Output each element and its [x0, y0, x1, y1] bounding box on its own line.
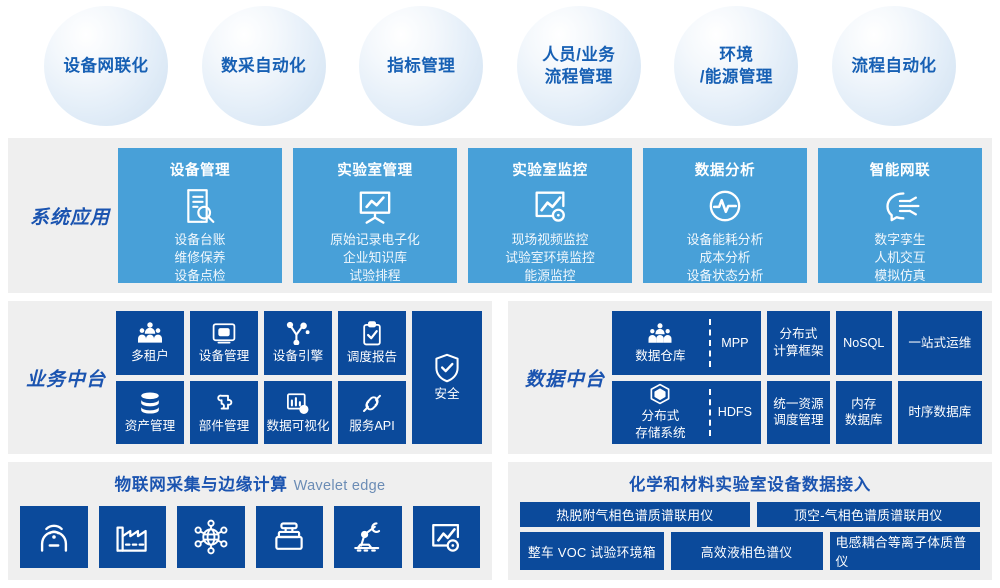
lab-data-access-section: 化学和材料实验室设备数据接入 热脱附气相色谱质谱联用仪 顶空-气相色谱质谱联用仪… [508, 462, 992, 580]
data-tile-nosql-label: NoSQL [843, 335, 884, 351]
clipboard-check-icon [360, 321, 384, 346]
iot-icon-box-monitor-chart[interactable] [413, 506, 481, 568]
business-tile-data-visualization[interactable]: 数据可视化 [264, 381, 332, 445]
data-tile-unified-resource-scheduling[interactable]: 统一资源 调度管理 [767, 381, 830, 445]
lab-chip-row-2: 整车 VOC 试验环境箱 高效液相色谱仪 电感耦合等离子体质普仪 [520, 532, 980, 570]
data-group-storage-hdfs: 分布式 存储系统 HDFS [612, 381, 761, 445]
capability-bubble-1[interactable]: 设备网联化 [44, 6, 168, 126]
wifi-gateway-icon [37, 520, 71, 554]
puzzle-icon [212, 391, 236, 415]
system-application-label: 系统应用 [22, 202, 118, 229]
system-card-lab-monitoring[interactable]: 实验室监控 现场视频监控 试验室环境监控 能源监控 [468, 148, 632, 283]
data-tile-warehouse[interactable]: 数据仓库 [612, 311, 709, 375]
system-card-intelligent-network-lines: 数字孪生 人机交互 模拟仿真 [874, 231, 925, 285]
presentation-chart-icon [354, 186, 396, 226]
system-card-lab-monitoring-lines: 现场视频监控 试验室环境监控 能源监控 [505, 231, 595, 285]
lab-chip-icp-ms[interactable]: 电感耦合等离子体质普仪 [830, 532, 980, 570]
business-tile-device-management-label: 设备管理 [199, 348, 249, 364]
device-engine-icon [285, 321, 311, 345]
data-platform-section: 数据中台 数据仓库 [508, 301, 992, 454]
iot-edge-title: 物联网采集与边缘计算 [115, 476, 288, 494]
business-platform-tile-grid: 多租户 设备管理 [116, 311, 482, 444]
system-card-device-management[interactable]: 设备管理 设备台账 维修保养 设备点检 [118, 148, 282, 283]
shield-check-icon [433, 353, 461, 383]
asset-stack-icon [137, 391, 163, 415]
business-tile-schedule-report-label: 调度报告 [347, 349, 397, 365]
data-tile-nosql[interactable]: NoSQL [836, 311, 892, 375]
business-tile-asset-management-label: 资产管理 [125, 418, 175, 434]
business-tile-security-label: 安全 [434, 386, 459, 402]
iot-edge-heading: 物联网采集与边缘计算Wavelet edge [8, 462, 492, 495]
capability-bubble-5[interactable]: 环境 /能源管理 [674, 6, 798, 126]
business-tile-device-engine[interactable]: 设备引擎 [264, 311, 332, 375]
system-application-section: 系统应用 设备管理 设备台账 维修保养 设备点检 实验室管理 [8, 138, 992, 293]
business-tile-asset-management[interactable]: 资产管理 [116, 381, 184, 445]
business-tile-service-api[interactable]: 服务API [338, 381, 406, 445]
system-card-device-management-lines: 设备台账 维修保养 设备点检 [174, 231, 225, 285]
business-tile-schedule-report[interactable]: 调度报告 [338, 311, 406, 375]
data-visual-icon [285, 391, 310, 415]
business-tile-device-engine-label: 设备引擎 [273, 348, 323, 364]
capability-bubble-2[interactable]: 数采自动化 [202, 6, 326, 126]
data-tile-onestop-ops-label: 一站式运维 [908, 335, 971, 351]
lab-chip-headspace-gcms[interactable]: 顶空-气相色谱质谱联用仪 [757, 502, 980, 527]
api-link-icon [359, 391, 385, 415]
data-platform-tile-grid: 数据仓库 MPP 分布式 计算框架 NoSQL 一站式运维 [612, 311, 982, 444]
data-tile-distributed-compute-label: 分布式 计算框架 [773, 326, 823, 359]
data-tile-warehouse-label: 数据仓库 [635, 348, 685, 364]
iot-icon-box-factory[interactable] [99, 506, 167, 568]
lab-data-access-title: 化学和材料实验室设备数据接入 [629, 476, 871, 494]
capability-bubble-row: 设备网联化 数采自动化 指标管理 人员/业务 流程管理 环境 /能源管理 流程自… [0, 0, 1000, 132]
data-warehouse-icon [647, 322, 673, 345]
pulse-circle-icon [705, 186, 745, 226]
data-tile-onestop-ops[interactable]: 一站式运维 [898, 311, 982, 375]
data-tile-distributed-compute[interactable]: 分布式 计算框架 [767, 311, 830, 375]
multi-tenant-icon [137, 321, 163, 345]
business-platform-section: 业务中台 多租户 [8, 301, 492, 454]
capability-bubble-3-label: 指标管理 [387, 55, 455, 77]
ai-head-icon [878, 186, 922, 226]
network-globe-icon [193, 519, 229, 555]
data-tile-hdfs[interactable]: HDFS [709, 381, 761, 445]
iot-icon-box-sensor-device[interactable] [256, 506, 324, 568]
data-group-warehouse-mpp: 数据仓库 MPP [612, 311, 761, 375]
lab-chip-row-1: 热脱附气相色谱质谱联用仪 顶空-气相色谱质谱联用仪 [520, 502, 980, 527]
business-tile-component-management-label: 部件管理 [199, 418, 249, 434]
device-manage-icon [211, 321, 237, 345]
system-card-data-analysis[interactable]: 数据分析 设备能耗分析 成本分析 设备状态分析 [643, 148, 807, 283]
data-tile-timeseries-db[interactable]: 时序数据库 [898, 381, 982, 445]
business-tile-data-visualization-label: 数据可视化 [266, 418, 329, 434]
system-application-card-list: 设备管理 设备台账 维修保养 设备点检 实验室管理 [118, 148, 982, 283]
iot-edge-subtitle: Wavelet edge [294, 478, 386, 494]
business-tile-security[interactable]: 安全 [412, 311, 482, 444]
system-card-device-management-title: 设备管理 [170, 159, 230, 180]
capability-bubble-3[interactable]: 指标管理 [359, 6, 483, 126]
distributed-storage-icon [648, 383, 672, 405]
capability-bubble-5-label: 环境 /能源管理 [700, 44, 773, 89]
capability-bubble-6-label: 流程自动化 [851, 55, 936, 77]
document-search-icon [180, 186, 220, 226]
iot-icon-box-wifi-gateway[interactable] [20, 506, 88, 568]
data-tile-distributed-storage[interactable]: 分布式 存储系统 [612, 381, 709, 445]
business-tile-service-api-label: 服务API [349, 418, 395, 434]
system-card-lab-monitoring-title: 实验室监控 [512, 159, 588, 180]
business-tile-multi-tenant-label: 多租户 [131, 348, 169, 364]
sensor-device-icon [271, 521, 307, 553]
business-tile-component-management[interactable]: 部件管理 [190, 381, 258, 445]
system-card-intelligent-network-title: 智能网联 [870, 159, 930, 180]
data-tile-mpp-label: MPP [721, 335, 748, 351]
robot-arm-icon [350, 520, 386, 554]
iot-icon-box-robot-arm[interactable] [334, 506, 402, 568]
iot-edge-section: 物联网采集与边缘计算Wavelet edge [8, 462, 492, 580]
architecture-diagram: 设备网联化 数采自动化 指标管理 人员/业务 流程管理 环境 /能源管理 流程自… [0, 0, 1000, 588]
iot-icon-box-network-globe[interactable] [177, 506, 245, 568]
business-tile-device-management[interactable]: 设备管理 [190, 311, 258, 375]
monitor-chart-icon [529, 186, 571, 226]
business-platform-label: 业务中台 [20, 364, 112, 391]
system-card-data-analysis-lines: 设备能耗分析 成本分析 设备状态分析 [687, 231, 764, 285]
system-card-intelligent-network[interactable]: 智能网联 数字孪生 人机交互 模拟仿真 [818, 148, 982, 283]
system-card-data-analysis-title: 数据分析 [695, 159, 755, 180]
iot-edge-icon-row [20, 506, 480, 568]
business-tile-multi-tenant[interactable]: 多租户 [116, 311, 184, 375]
data-tile-inmemory-db[interactable]: 内存 数据库 [836, 381, 892, 445]
data-tile-unified-resource-scheduling-label: 统一资源 调度管理 [773, 396, 823, 429]
data-tile-distributed-storage-label: 分布式 存储系统 [635, 408, 685, 441]
data-tile-mpp[interactable]: MPP [709, 311, 761, 375]
data-tile-inmemory-db-label: 内存 数据库 [845, 396, 883, 429]
capability-bubble-4[interactable]: 人员/业务 流程管理 [517, 6, 641, 126]
system-card-lab-management-lines: 原始记录电子化 企业知识库 试验排程 [330, 231, 420, 285]
lab-data-access-heading: 化学和材料实验室设备数据接入 [508, 462, 992, 495]
lab-chip-hplc[interactable]: 高效液相色谱仪 [671, 532, 823, 570]
data-tile-timeseries-db-label: 时序数据库 [908, 404, 971, 420]
data-tile-hdfs-label: HDFS [718, 404, 752, 420]
capability-bubble-1-label: 设备网联化 [64, 55, 149, 77]
monitor-chart-icon [428, 520, 464, 554]
capability-bubble-2-label: 数采自动化 [221, 55, 306, 77]
lab-chip-rows: 热脱附气相色谱质谱联用仪 顶空-气相色谱质谱联用仪 整车 VOC 试验环境箱 高… [520, 502, 980, 570]
lab-chip-voc-chamber[interactable]: 整车 VOC 试验环境箱 [520, 532, 664, 570]
factory-icon [114, 520, 150, 554]
capability-bubble-6[interactable]: 流程自动化 [832, 6, 956, 126]
data-platform-label: 数据中台 [518, 364, 612, 391]
capability-bubble-4-label: 人员/业务 流程管理 [542, 44, 615, 89]
system-card-lab-management-title: 实验室管理 [337, 159, 413, 180]
lab-chip-td-gcms[interactable]: 热脱附气相色谱质谱联用仪 [520, 502, 750, 527]
system-card-lab-management[interactable]: 实验室管理 原始记录电子化 企业知识库 试验排程 [293, 148, 457, 283]
